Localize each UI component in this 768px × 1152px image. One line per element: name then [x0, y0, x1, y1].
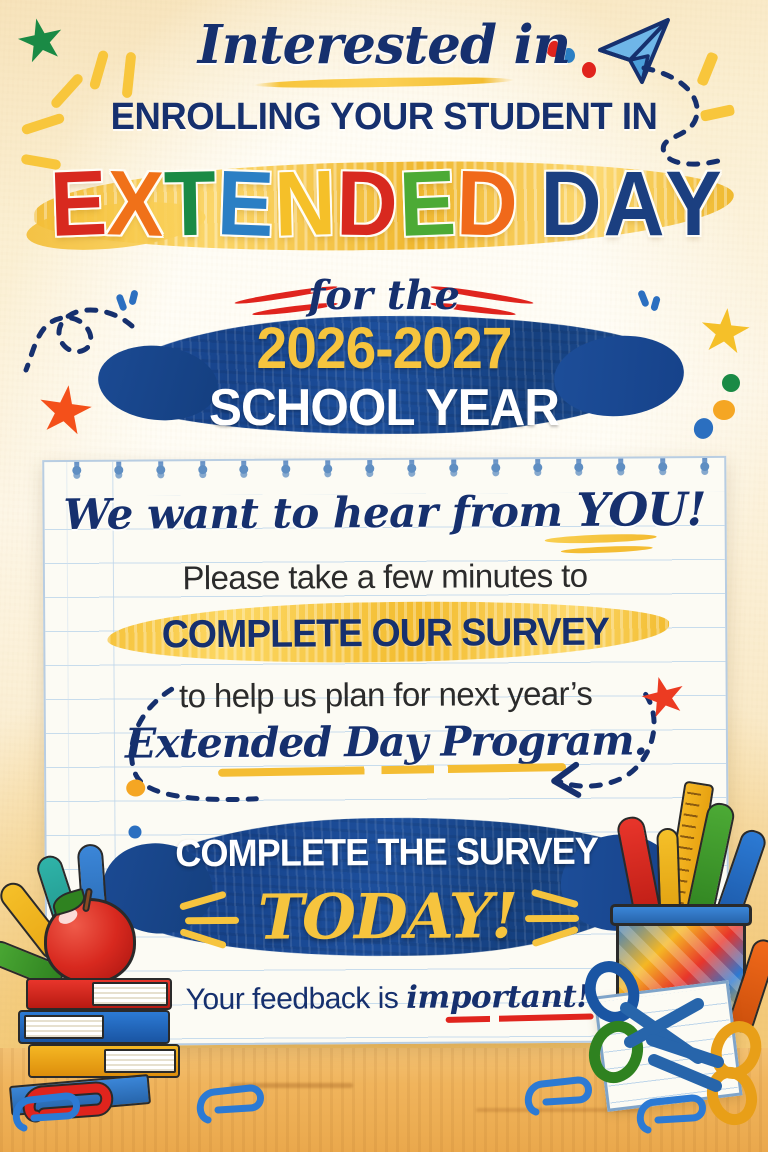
school-year-range: 2026-2027 — [19, 318, 749, 380]
complete-our-survey-line: COMPLETE OUR SURVEY — [59, 610, 712, 658]
headline-underline — [254, 76, 514, 90]
hear-from-you-emph: YOU! — [576, 482, 706, 537]
hear-from-you-prefix: We want to hear from — [63, 487, 576, 539]
spiral-hole — [72, 466, 81, 475]
spiral-hole — [240, 465, 249, 474]
spiral-hole — [282, 465, 291, 474]
feedback-emph: important! — [406, 979, 589, 1016]
program-title-letter — [517, 150, 537, 258]
spiral-hole — [198, 465, 207, 474]
program-title-letter: N — [273, 149, 333, 259]
spiral-hole — [533, 463, 542, 472]
spiral-hole — [700, 462, 709, 471]
program-title-letter: X — [106, 149, 161, 258]
spiral-hole — [323, 464, 332, 473]
school-year-block: 2026-2027 SCHOOL YEAR — [0, 318, 768, 436]
school-supplies-cup-illustration — [580, 788, 768, 1088]
program-title-letter: D — [541, 150, 598, 258]
program-title-letter: E — [397, 149, 453, 259]
program-title-letter: E — [48, 149, 104, 259]
program-title-letter: E — [215, 149, 271, 259]
for-the-label: for the — [0, 272, 768, 319]
hear-from-you-line: We want to hear from YOU! — [44, 482, 724, 540]
spiral-hole — [114, 466, 123, 475]
program-title: EXTENDED DAY — [0, 150, 768, 258]
notebook-blue — [9, 1074, 151, 1116]
spiral-hole — [491, 463, 500, 472]
program-title-letter: T — [164, 150, 214, 259]
spiral-hole — [449, 464, 458, 473]
orange-dot-decoration — [126, 779, 145, 796]
program-title-letter: D — [336, 149, 395, 258]
please-take-line: Please take a few minutes to — [45, 556, 725, 598]
spiral-hole — [617, 463, 626, 472]
apple-on-books-illustration — [0, 846, 226, 1116]
program-title-letter: Y — [665, 150, 718, 258]
spiral-hole — [407, 464, 416, 473]
program-name-line: Extended Day Program. — [46, 716, 726, 768]
spiral-hole — [156, 465, 165, 474]
school-year-label: SCHOOL YEAR — [19, 380, 749, 436]
program-title-letter: D — [455, 149, 515, 259]
poster-canvas: Interested in ENROLLING YOUR STUDENT IN … — [0, 0, 768, 1152]
spiral-hole — [365, 464, 374, 473]
headline-script: Interested in — [0, 14, 768, 76]
spiral-hole — [658, 462, 667, 471]
to-help-us-line: to help us plan for next year’s — [46, 674, 726, 716]
headline-caps: ENROLLING YOUR STUDENT IN — [15, 96, 752, 139]
spiral-hole — [575, 463, 584, 472]
program-title-letter: A — [603, 150, 660, 258]
